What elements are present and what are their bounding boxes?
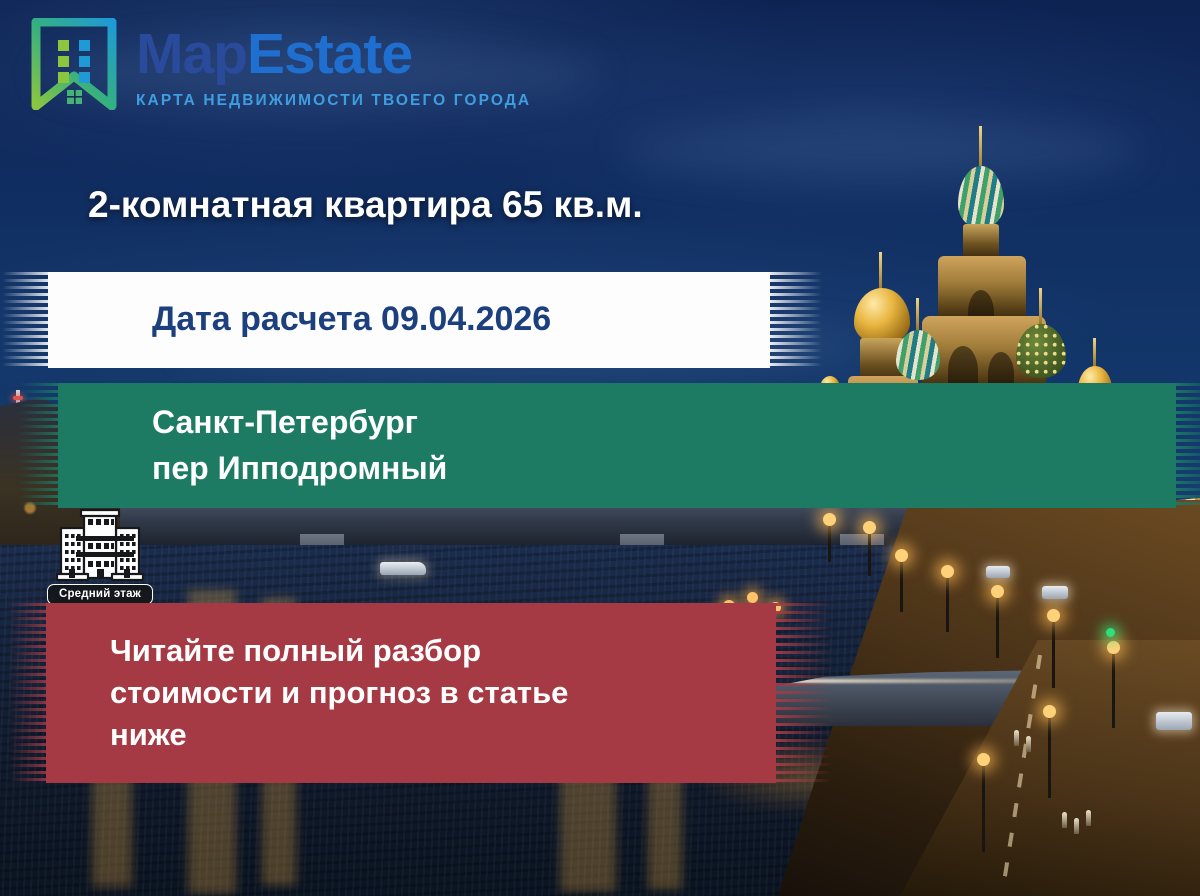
- pedestrian: [1062, 812, 1067, 828]
- striped-dome: [958, 166, 1004, 228]
- cta-line-2: стоимости и прогноз в статье: [46, 672, 776, 714]
- street-lamp: [1048, 712, 1051, 798]
- street-lamp: [996, 592, 999, 658]
- street-lamp: [946, 572, 949, 632]
- car: [1156, 712, 1192, 730]
- cta-line-3: ниже: [46, 714, 776, 756]
- cta-line-1: Читайте полный разбор: [46, 630, 776, 672]
- traffic-light-green: [1106, 628, 1115, 637]
- street-lamp: [1052, 616, 1055, 688]
- pedestrian: [1086, 810, 1091, 826]
- address-city: Санкт-Петербург: [58, 400, 1176, 445]
- bookmark-building-icon: [30, 18, 118, 110]
- brand-name-estate: Estate: [247, 26, 412, 83]
- dotted-dome: [1016, 324, 1066, 378]
- pedestrian: [1014, 730, 1019, 746]
- street-lamp: [828, 520, 831, 562]
- listing-title-block: 2-комнатная квартира 65 кв.м.: [88, 184, 768, 227]
- gold-dome: [854, 288, 910, 344]
- drum: [963, 224, 999, 258]
- brand-wordmark: Map Estate КАРТА НЕДВИЖИМОСТИ ТВОЕГО ГОР…: [136, 18, 531, 110]
- cta-band[interactable]: Читайте полный разбор стоимости и прогно…: [46, 603, 776, 783]
- address-band: Санкт-Петербург пер Ипподромный: [58, 383, 1176, 508]
- street-lamp-glow: [747, 592, 758, 603]
- street-lamp: [1112, 648, 1115, 728]
- floor-badge-label: Средний этаж: [47, 584, 153, 605]
- address-street: пер Ипподромный: [58, 446, 1176, 491]
- calculation-date-band: Дата расчета 09.04.2026: [48, 272, 770, 368]
- car: [986, 566, 1010, 578]
- brand-tagline: КАРТА НЕДВИЖИМОСТИ ТВОЕГО ГОРОДА: [136, 92, 531, 110]
- building-icon: [54, 506, 146, 582]
- pedestrian: [1074, 818, 1079, 834]
- street-lamp: [900, 556, 903, 612]
- street-lamp: [982, 760, 985, 852]
- pedestrian: [1026, 736, 1031, 752]
- calculation-date-text: Дата расчета 09.04.2026: [48, 301, 770, 338]
- floor-badge: Средний этаж: [46, 506, 154, 605]
- river-boat: [380, 562, 426, 575]
- listing-title: 2-комнатная квартира 65 кв.м.: [88, 184, 768, 227]
- promo-poster: Map Estate КАРТА НЕДВИЖИМОСТИ ТВОЕГО ГОР…: [0, 0, 1200, 896]
- car: [1042, 586, 1068, 599]
- brand-logo[interactable]: Map Estate КАРТА НЕДВИЖИМОСТИ ТВОЕГО ГОР…: [30, 18, 531, 110]
- brand-name-map: Map: [136, 26, 247, 83]
- street-lamp: [868, 528, 871, 576]
